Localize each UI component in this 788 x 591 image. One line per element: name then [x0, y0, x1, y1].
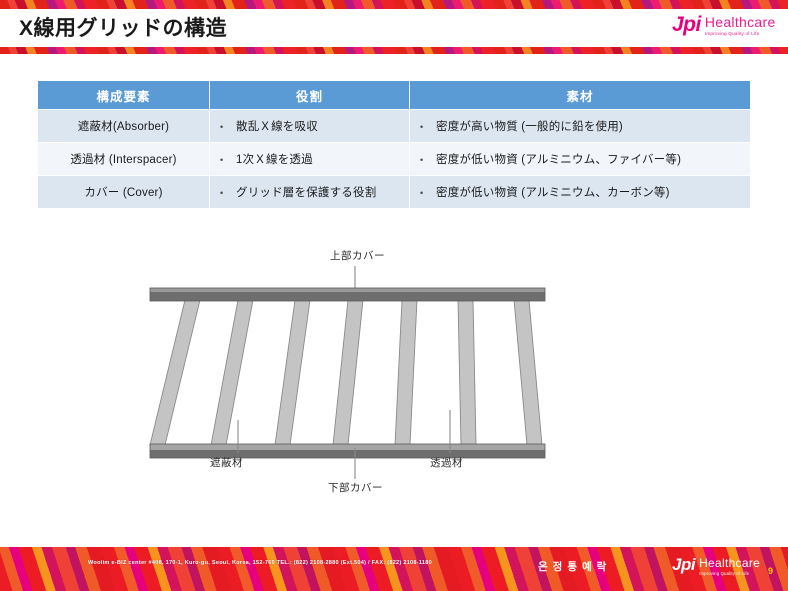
- cell-material: • 密度が低い物資 (アルミニウム、ファイバー等): [410, 143, 751, 176]
- grid-components-table: 構成要素 役割 素材 遮蔽材(Absorber) • 散乱Ｘ線を吸収 • 密度が…: [37, 80, 751, 209]
- diagram-label-top-cover: 上部カバー: [330, 248, 385, 263]
- page-title: X線用グリッドの構造: [19, 12, 227, 42]
- footer-korean-text: 온정통예락: [538, 559, 611, 574]
- cell-role-text: 散乱Ｘ線を吸収: [236, 118, 318, 134]
- bullet-icon: •: [420, 155, 436, 165]
- header-top-stripe: [0, 0, 788, 9]
- jpi-logo-word: Healthcare: [705, 15, 776, 29]
- jpi-healthcare-logo-footer: Jpi Healthcare Improving Quality of Life: [672, 556, 760, 576]
- jpi-logo-mark: Jpi: [672, 14, 701, 35]
- grid-cross-section-diagram: 上部カバー 遮蔽材 下部カバー 透過材: [140, 248, 660, 503]
- table-header-row: 構成要素 役割 素材: [38, 81, 751, 110]
- bullet-icon: •: [420, 188, 436, 198]
- top-cover-bar: [150, 288, 545, 301]
- cell-role: • 1次Ｘ線を透過: [210, 143, 410, 176]
- bullet-icon: •: [220, 188, 236, 198]
- absorber-strip: [395, 300, 417, 445]
- absorber-strip: [150, 300, 200, 445]
- absorber-strip: [514, 300, 542, 445]
- table-row: 遮蔽材(Absorber) • 散乱Ｘ線を吸収 • 密度が高い物質 (一般的に鉛…: [38, 110, 751, 143]
- table-header-component: 構成要素: [38, 81, 210, 110]
- jpi-logo-mark: Jpi: [672, 556, 695, 573]
- jpi-healthcare-logo-header: Jpi Healthcare Improving Quality of Life: [672, 14, 776, 37]
- diagram-label-interspacer: 透過材: [430, 455, 463, 470]
- cell-component: 遮蔽材(Absorber): [38, 110, 210, 143]
- cell-material: • 密度が高い物質 (一般的に鉛を使用): [410, 110, 751, 143]
- cell-role: • 散乱Ｘ線を吸収: [210, 110, 410, 143]
- cell-material-text: 密度が高い物質 (一般的に鉛を使用): [436, 118, 623, 134]
- absorber-strip: [275, 300, 310, 445]
- jpi-logo-tagline: Improving Quality of Life: [699, 572, 760, 576]
- absorber-strip: [333, 300, 363, 445]
- cell-material: • 密度が低い物資 (アルミニウム、カーボン等): [410, 176, 751, 209]
- cell-role: • グリッド層を保護する役割: [210, 176, 410, 209]
- absorber-strip: [211, 300, 253, 445]
- page-number: 9: [768, 566, 773, 576]
- bullet-icon: •: [220, 155, 236, 165]
- bullet-icon: •: [420, 122, 436, 132]
- diagram-label-absorber: 遮蔽材: [210, 455, 243, 470]
- table-row: カバー (Cover) • グリッド層を保護する役割 • 密度が低い物資 (アル…: [38, 176, 751, 209]
- diagram-label-bottom-cover: 下部カバー: [328, 480, 383, 495]
- cell-role-text: グリッド層を保護する役割: [236, 184, 376, 200]
- absorber-strips: [150, 300, 542, 445]
- cell-material-text: 密度が低い物資 (アルミニウム、カーボン等): [436, 184, 670, 200]
- footer-band: [0, 547, 788, 591]
- jpi-logo-tagline: Improving Quality of Life: [705, 32, 776, 37]
- header-bottom-stripe: [0, 47, 788, 54]
- table-row: 透過材 (Interspacer) • 1次Ｘ線を透過 • 密度が低い物資 (ア…: [38, 143, 751, 176]
- cell-role-text: 1次Ｘ線を透過: [236, 151, 313, 167]
- jpi-logo-word: Healthcare: [699, 557, 760, 569]
- footer-address: Woolim e-BIZ center #408, 170-1, Kuro-gu…: [88, 560, 432, 566]
- cell-component: カバー (Cover): [38, 176, 210, 209]
- table-header-material: 素材: [410, 81, 751, 110]
- cell-material-text: 密度が低い物資 (アルミニウム、ファイバー等): [436, 151, 681, 167]
- table-header-role: 役割: [210, 81, 410, 110]
- cell-component: 透過材 (Interspacer): [38, 143, 210, 176]
- bullet-icon: •: [220, 122, 236, 132]
- absorber-strip: [458, 300, 476, 445]
